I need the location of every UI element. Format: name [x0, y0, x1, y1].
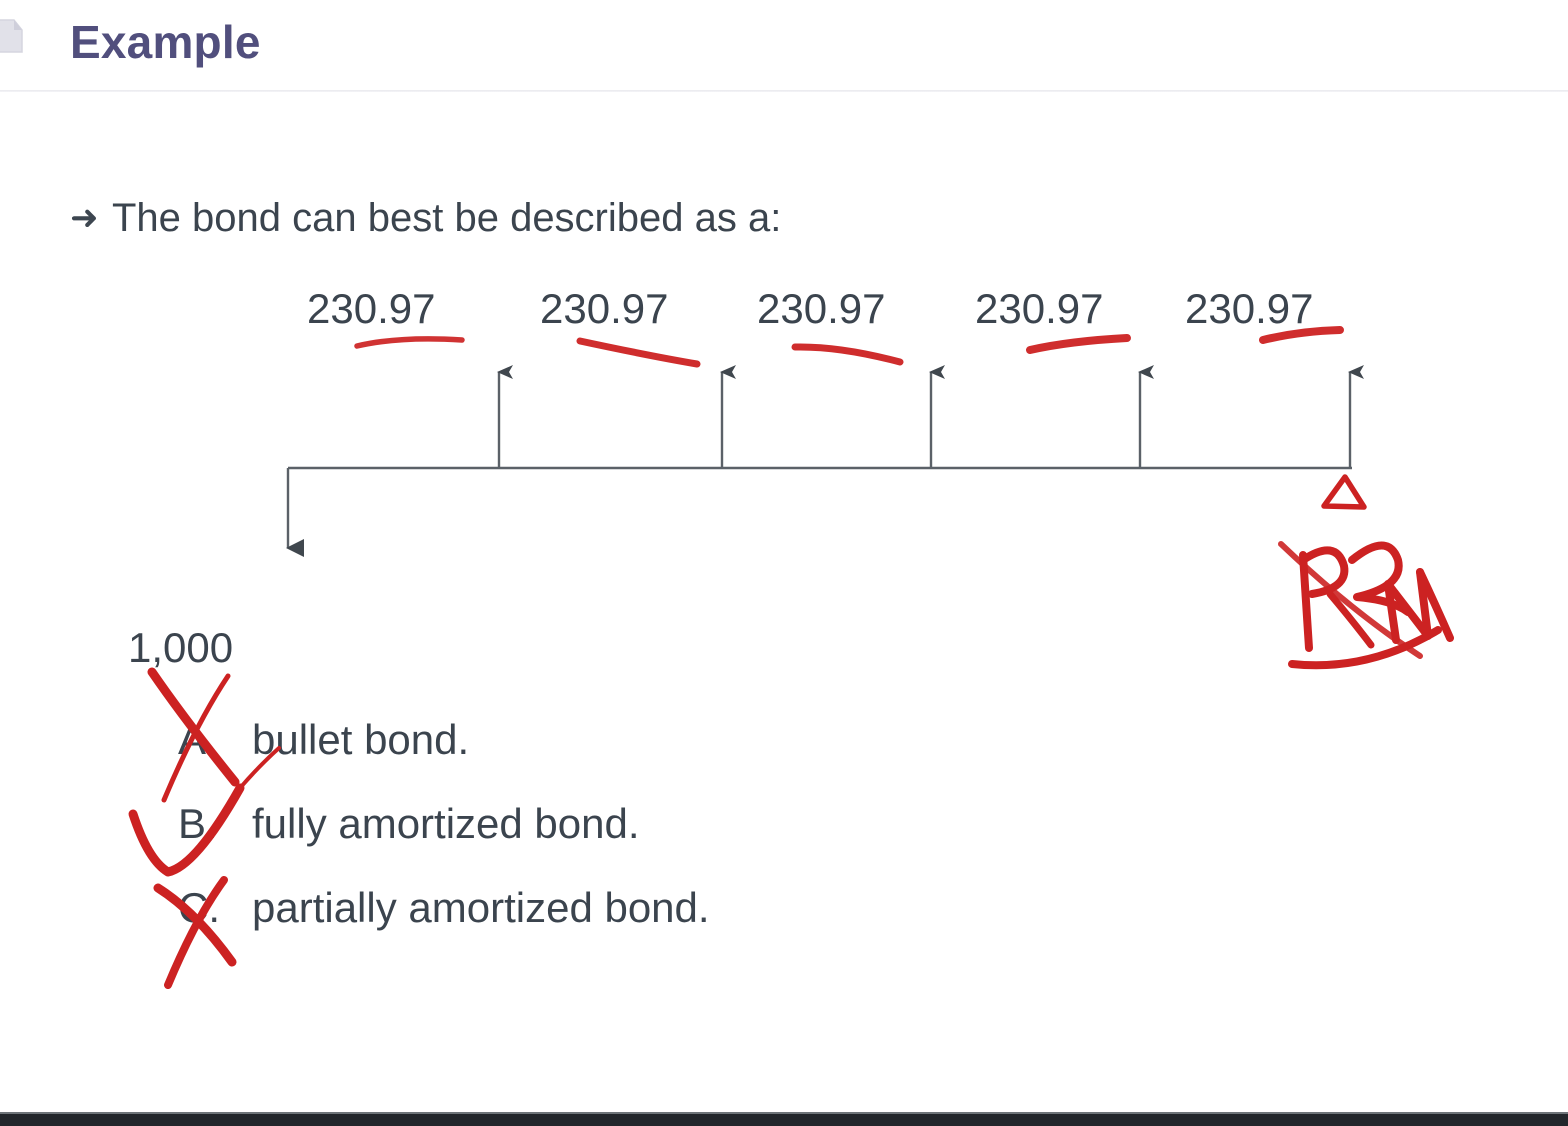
choice-b[interactable]: B. fully amortized bond.: [178, 796, 640, 852]
slide-header: Example: [0, 0, 1568, 91]
choice-c-text: partially amortized bond.: [252, 880, 710, 936]
choice-a-letter: A.: [178, 712, 252, 768]
arrow-bullet-icon: ➜: [70, 190, 112, 246]
ink-underline-1: [357, 339, 462, 346]
header-divider: [0, 90, 1568, 92]
ink-underlines: [357, 330, 1340, 364]
choice-c-letter: C.: [178, 880, 252, 936]
inflow-arrows: [499, 372, 1350, 468]
ink-scribble-prn: [1281, 544, 1450, 665]
cashflow-label-3: 230.97: [757, 283, 885, 335]
principal-outflow-label: 1,000: [128, 622, 233, 674]
ink-underline-3: [795, 347, 900, 362]
ink-delta-symbol: [1324, 477, 1364, 507]
cashflow-label-2: 230.97: [540, 283, 668, 335]
cashflow-label-4: 230.97: [975, 283, 1103, 335]
page-title: Example: [70, 10, 261, 74]
choice-b-letter: B.: [178, 796, 252, 852]
choice-a[interactable]: A. bullet bond.: [178, 712, 469, 768]
question-text: The bond can best be described as a:: [112, 190, 781, 246]
ink-underline-2: [580, 341, 697, 364]
choice-c[interactable]: C. partially amortized bond.: [178, 880, 710, 936]
page-corner-icon: [0, 18, 24, 54]
question-bullet-row: ➜ The bond can best be described as a:: [70, 190, 781, 246]
ink-underline-4: [1030, 338, 1127, 350]
choice-b-text: fully amortized bond.: [252, 796, 640, 852]
choice-a-text: bullet bond.: [252, 712, 469, 768]
bottom-player-bar: [0, 1112, 1568, 1126]
slide-canvas: Example ➜ The bond can best be described…: [0, 0, 1568, 1126]
cashflow-label-5: 230.97: [1185, 283, 1313, 335]
cashflow-label-1: 230.97: [307, 283, 435, 335]
cashflow-timeline-diagram: [0, 0, 1568, 1126]
